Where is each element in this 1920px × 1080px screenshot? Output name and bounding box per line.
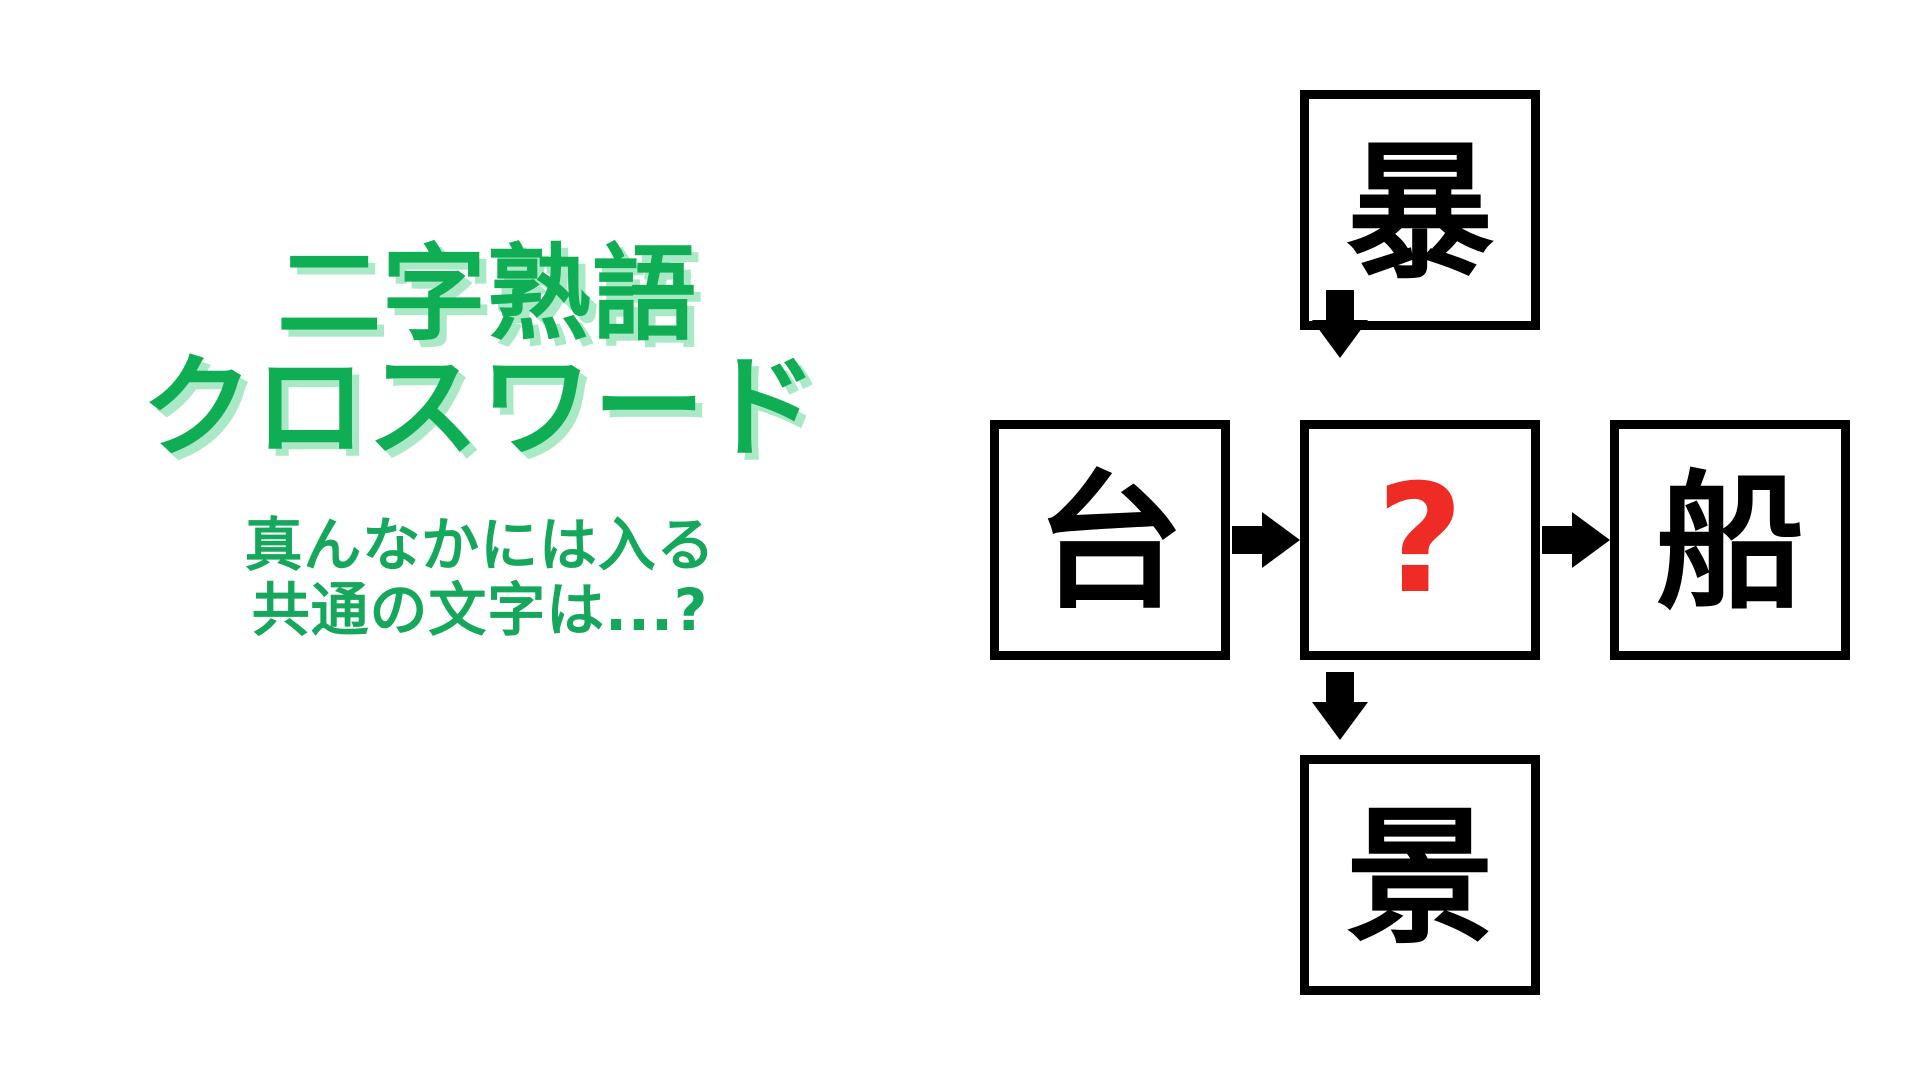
arrow-head xyxy=(1312,702,1368,740)
crossword-cell-center[interactable]: ? xyxy=(1300,420,1540,660)
headline-line-2: クロスワード xyxy=(0,350,960,466)
arrow-right-icon-left-to-center xyxy=(1232,512,1300,568)
arrow-down-icon-top-to-center xyxy=(1312,290,1368,358)
poster-canvas: 二字熟語 クロスワード 真んなかには入る 共通の文字は...? 暴 台 ? 船 … xyxy=(0,0,1920,1080)
crossword-cell-left: 台 xyxy=(990,420,1230,660)
unknown-answer-marker: ? xyxy=(1376,465,1463,615)
crossword-cell-bottom: 景 xyxy=(1300,755,1540,995)
subtitle-line-2: 共通の文字は...? xyxy=(0,578,960,643)
kanji-glyph-bottom: 景 xyxy=(1346,804,1494,952)
kanji-glyph-top: 暴 xyxy=(1346,139,1494,287)
kanji-glyph-left: 台 xyxy=(1036,469,1184,617)
crossword-diagram: 暴 台 ? 船 景 xyxy=(960,0,1920,1080)
arrow-down-icon-center-to-bottom xyxy=(1312,672,1368,740)
subtitle-line-1: 真んなかには入る xyxy=(0,513,960,578)
arrow-head xyxy=(1262,512,1300,568)
arrow-right-icon-center-to-right xyxy=(1542,512,1610,568)
headline-line-1: 二字熟語 xyxy=(14,240,960,348)
kanji-glyph-right: 船 xyxy=(1656,469,1804,617)
headline: 二字熟語 クロスワード xyxy=(0,240,960,467)
arrow-head xyxy=(1312,320,1368,358)
text-panel: 二字熟語 クロスワード 真んなかには入る 共通の文字は...? xyxy=(0,240,960,643)
arrow-head xyxy=(1572,512,1610,568)
subtitle: 真んなかには入る 共通の文字は...? xyxy=(0,513,960,643)
crossword-cell-right: 船 xyxy=(1610,420,1850,660)
